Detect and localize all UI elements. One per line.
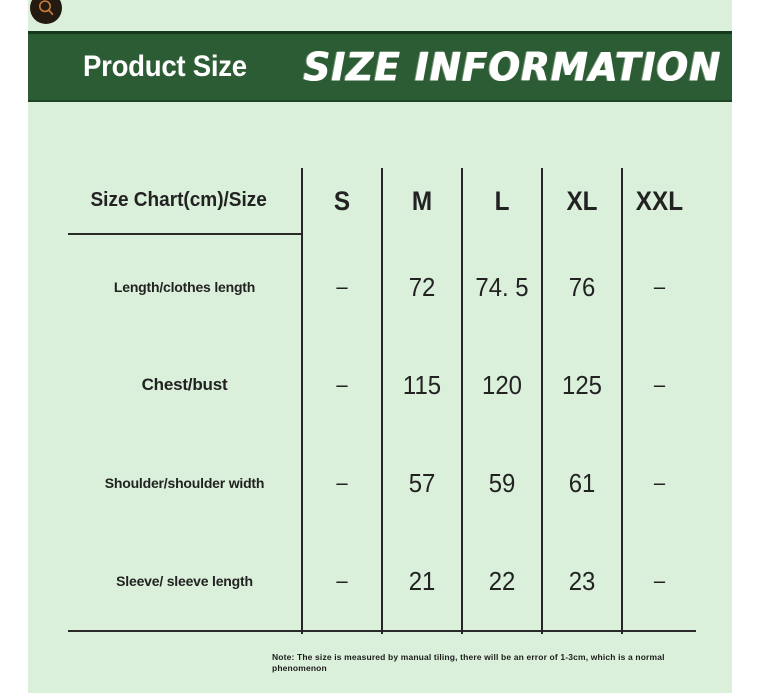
column-header-xxl: XXL	[626, 168, 693, 234]
cell-length-xxl: –	[625, 238, 693, 336]
bottom-rule-label	[68, 631, 302, 634]
page-title: Product Size	[83, 50, 247, 84]
column-header-s: S	[306, 168, 378, 234]
size-chart-page: Product Size SIZE INFORMATION Size Chart…	[0, 0, 761, 693]
bottom-rule-xxl	[622, 631, 696, 634]
column-header-l: L	[466, 168, 538, 234]
column-header-m: M	[386, 168, 458, 234]
bottom-rule-xl	[542, 631, 622, 634]
bottom-rule-m	[382, 631, 462, 634]
row-label-sleeve: Sleeve/ sleeve length	[68, 532, 302, 631]
cell-sleeve-m: 21	[385, 532, 459, 631]
table-row: Sleeve/ sleeve length – 21 22 23 –	[68, 532, 696, 631]
cell-sleeve-xxl: –	[625, 532, 693, 631]
size-table-container: Size Chart(cm)/Size S M L XL XXL	[28, 168, 732, 648]
table-bottom-rule	[68, 631, 696, 634]
table-row: Length/clothes length – 72 74. 5 76 –	[68, 238, 696, 336]
cell-shoulder-l: 59	[465, 434, 539, 532]
cell-shoulder-xl: 61	[545, 434, 619, 532]
header-banner: Product Size SIZE INFORMATION	[28, 31, 732, 102]
row-label-length: Length/clothes length	[68, 238, 302, 336]
row-label-chest: Chest/bust	[68, 336, 302, 434]
cell-shoulder-xxl: –	[625, 434, 693, 532]
bottom-rule-s	[302, 631, 382, 634]
cell-length-xl: 76	[545, 238, 619, 336]
cell-sleeve-s: –	[305, 532, 379, 631]
cell-chest-l: 120	[465, 336, 539, 434]
cell-sleeve-l: 22	[465, 532, 539, 631]
cell-chest-xxl: –	[625, 336, 693, 434]
table-row: Shoulder/shoulder width – 57 59 61 –	[68, 434, 696, 532]
cell-shoulder-s: –	[305, 434, 379, 532]
banner-subtitle: SIZE INFORMATION	[303, 44, 721, 89]
column-header-label: Size Chart(cm)/Size	[68, 168, 290, 234]
cell-chest-xl: 125	[545, 336, 619, 434]
cell-sleeve-xl: 23	[545, 532, 619, 631]
cell-length-s: –	[305, 238, 379, 336]
column-header-xl: XL	[546, 168, 618, 234]
cell-shoulder-m: 57	[385, 434, 459, 532]
table-header-row: Size Chart(cm)/Size S M L XL XXL	[68, 168, 696, 234]
bottom-rule-l	[462, 631, 542, 634]
size-table: Size Chart(cm)/Size S M L XL XXL	[68, 168, 696, 634]
cell-length-m: 72	[385, 238, 459, 336]
measurement-note: Note: The size is measured by manual til…	[272, 652, 720, 675]
cell-length-l: 74. 5	[465, 238, 539, 336]
cell-chest-m: 115	[385, 336, 459, 434]
cell-chest-s: –	[305, 336, 379, 434]
row-label-shoulder: Shoulder/shoulder width	[68, 434, 302, 532]
table-row: Chest/bust – 115 120 125 –	[68, 336, 696, 434]
